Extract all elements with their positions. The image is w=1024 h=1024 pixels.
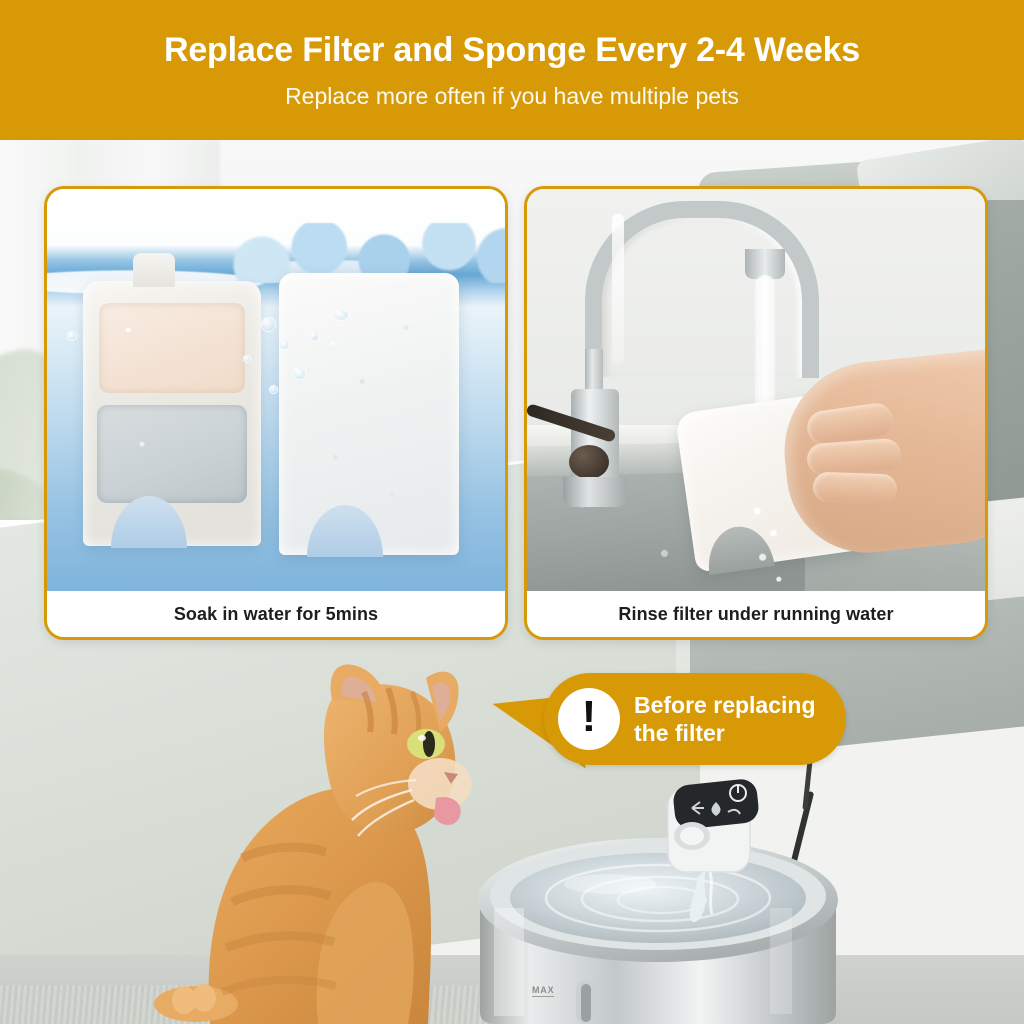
finger: [813, 472, 898, 505]
step-card-soak[interactable]: Soak in water for 5mins: [44, 186, 508, 640]
water-bubble: [261, 317, 276, 332]
exclamation-icon: !: [558, 688, 620, 750]
callout-line-1: Before replacing: [634, 691, 816, 719]
water-bubble: [243, 355, 251, 363]
sponge-filter-back: [279, 273, 459, 555]
page-title: Replace Filter and Sponge Every 2-4 Week…: [164, 33, 860, 67]
faucet-base: [563, 477, 627, 507]
page-subtitle: Replace more often if you have multiple …: [285, 85, 739, 108]
sponge-foam-texture: [285, 279, 453, 549]
faucet-arc: [585, 201, 819, 378]
filter-cartridge-front: [83, 281, 261, 546]
filter-notch: [111, 496, 187, 548]
filter-tab: [133, 253, 175, 287]
water-bubble: [279, 339, 290, 350]
filter-carbon-pad: [97, 405, 247, 503]
water-bubble: [309, 331, 319, 341]
fountain-max-label: MAX: [532, 985, 554, 997]
water-splash: [741, 489, 795, 591]
water-bubble: [293, 367, 306, 380]
filter-cotton-pad: [99, 303, 245, 393]
step-card-rinse[interactable]: Rinse filter under running water: [524, 186, 988, 640]
water-bubble: [333, 309, 349, 321]
callout-text: Before replacing the filter: [634, 691, 816, 747]
infographic-page: MAX Replace Filter and Sponge Every 2-4 …: [0, 0, 1024, 1024]
rinse-photo: [527, 189, 985, 591]
water-bubble: [67, 331, 77, 341]
callout-before-replacing[interactable]: ! Before replacing the filter: [544, 673, 846, 765]
soak-photo: [47, 189, 505, 591]
cat-illustration: [150, 648, 510, 1024]
rinse-caption: Rinse filter under running water: [527, 591, 985, 637]
water-bubble: [269, 385, 278, 394]
header-banner: Replace Filter and Sponge Every 2-4 Week…: [0, 0, 1024, 140]
faucet-knob: [569, 445, 609, 479]
finger: [806, 438, 902, 476]
pet-water-fountain: MAX: [470, 772, 870, 1024]
callout-line-2: the filter: [634, 719, 816, 747]
soak-caption: Soak in water for 5mins: [47, 591, 505, 637]
